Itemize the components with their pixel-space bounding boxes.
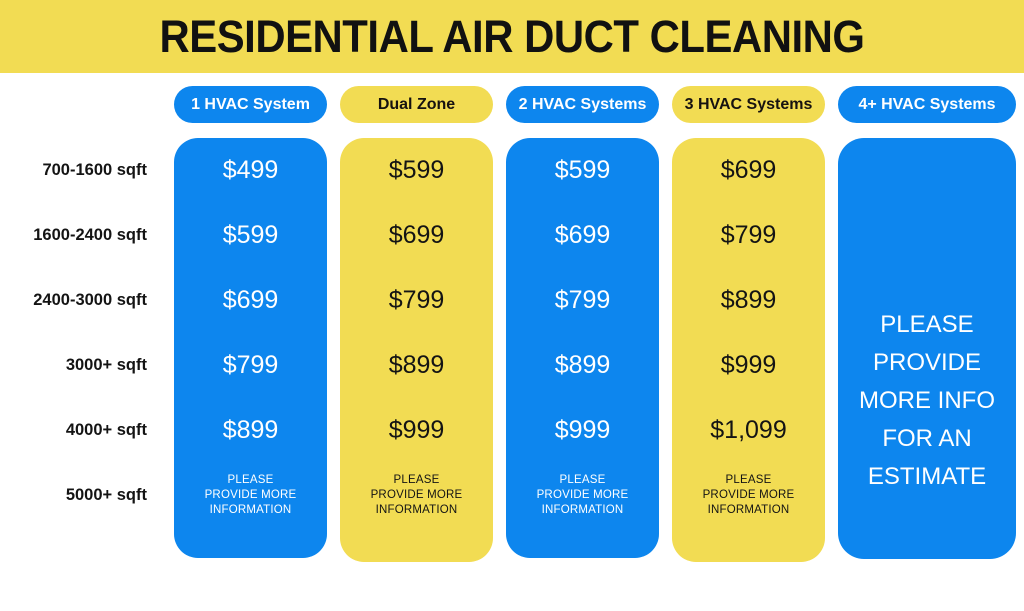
note-line: PROVIDE MORE — [537, 488, 629, 503]
pricing-column-3-hvac-systems: 3 HVAC Systems $699 $799 $899 $999 $1,09… — [672, 86, 825, 123]
price-cell: $899 — [672, 268, 825, 333]
note-line: INFORMATION — [542, 503, 624, 518]
column-header[interactable]: 2 HVAC Systems — [506, 86, 659, 123]
note-line: PLEASE — [880, 306, 973, 344]
price-cell: $699 — [174, 268, 327, 333]
page-title: RESIDENTIAL AIR DUCT CLEANING — [160, 14, 865, 59]
pricing-column-dual-zone: Dual Zone $599 $699 $799 $899 $999 PLEAS… — [340, 86, 493, 123]
price-cell: $899 — [340, 333, 493, 398]
note-line: MORE INFO — [859, 382, 995, 420]
pricing-columns: 1 HVAC System $499 $599 $699 $799 $899 P… — [174, 86, 1024, 566]
note-line: INFORMATION — [210, 503, 292, 518]
price-cell: $999 — [506, 398, 659, 463]
price-cell: $799 — [174, 333, 327, 398]
row-label: 1600-2400 sqft — [0, 203, 160, 268]
column-header[interactable]: 1 HVAC System — [174, 86, 327, 123]
column-card: $499 $599 $699 $799 $899 PLEASE PROVIDE … — [174, 138, 327, 558]
note-line: PLEASE — [394, 473, 440, 488]
note-line: INFORMATION — [708, 503, 790, 518]
row-label: 2400-3000 sqft — [0, 268, 160, 333]
title-banner: RESIDENTIAL AIR DUCT CLEANING — [0, 0, 1024, 73]
estimate-request-note: PLEASE PROVIDE MORE INFO FOR AN ESTIMATE — [838, 190, 1016, 611]
price-cell: $899 — [506, 333, 659, 398]
price-cell: $599 — [340, 138, 493, 203]
row-label-column: 700-1600 sqft 1600-2400 sqft 2400-3000 s… — [0, 138, 160, 528]
note-line: PROVIDE — [873, 344, 981, 382]
row-label: 3000+ sqft — [0, 333, 160, 398]
column-header[interactable]: 4+ HVAC Systems — [838, 86, 1016, 123]
price-cell: $799 — [672, 203, 825, 268]
column-card: PLEASE PROVIDE MORE INFO FOR AN ESTIMATE — [838, 138, 1016, 559]
price-cell: $1,099 — [672, 398, 825, 463]
column-card: $599 $699 $799 $899 $999 PLEASE PROVIDE … — [340, 138, 493, 562]
price-cell: $999 — [672, 333, 825, 398]
note-line: PLEASE — [726, 473, 772, 488]
price-note-cell: PLEASE PROVIDE MORE INFORMATION — [340, 463, 493, 528]
note-line: PLEASE — [228, 473, 274, 488]
row-label: 700-1600 sqft — [0, 138, 160, 203]
price-cell: $699 — [672, 138, 825, 203]
note-line: PROVIDE MORE — [703, 488, 795, 503]
price-cell: $799 — [506, 268, 659, 333]
price-cell: $499 — [174, 138, 327, 203]
note-line: FOR AN — [882, 420, 971, 458]
note-line: INFORMATION — [376, 503, 458, 518]
price-cell: $899 — [174, 398, 327, 463]
pricing-column-2-hvac-systems: 2 HVAC Systems $599 $699 $799 $899 $999 … — [506, 86, 659, 123]
price-note-cell: PLEASE PROVIDE MORE INFORMATION — [506, 463, 659, 528]
price-cell: $599 — [174, 203, 327, 268]
column-card: $599 $699 $799 $899 $999 PLEASE PROVIDE … — [506, 138, 659, 558]
price-cell: $999 — [340, 398, 493, 463]
column-card: $699 $799 $899 $999 $1,099 PLEASE PROVID… — [672, 138, 825, 562]
price-note-cell: PLEASE PROVIDE MORE INFORMATION — [174, 463, 327, 528]
price-cell: $599 — [506, 138, 659, 203]
column-header[interactable]: 3 HVAC Systems — [672, 86, 825, 123]
price-note-cell: PLEASE PROVIDE MORE INFORMATION — [672, 463, 825, 528]
pricing-column-4plus-hvac-systems: 4+ HVAC Systems PLEASE PROVIDE MORE INFO… — [838, 86, 1016, 123]
price-cell: $699 — [340, 203, 493, 268]
row-label: 5000+ sqft — [0, 463, 160, 528]
price-cell: $699 — [506, 203, 659, 268]
pricing-table-page: RESIDENTIAL AIR DUCT CLEANING 700-1600 s… — [0, 0, 1024, 576]
column-header[interactable]: Dual Zone — [340, 86, 493, 123]
note-line: PLEASE — [560, 473, 606, 488]
note-line: ESTIMATE — [868, 458, 986, 496]
price-cell: $799 — [340, 268, 493, 333]
note-line: PROVIDE MORE — [205, 488, 297, 503]
note-line: PROVIDE MORE — [371, 488, 463, 503]
pricing-column-1-hvac-system: 1 HVAC System $499 $599 $699 $799 $899 P… — [174, 86, 327, 123]
row-label: 4000+ sqft — [0, 398, 160, 463]
